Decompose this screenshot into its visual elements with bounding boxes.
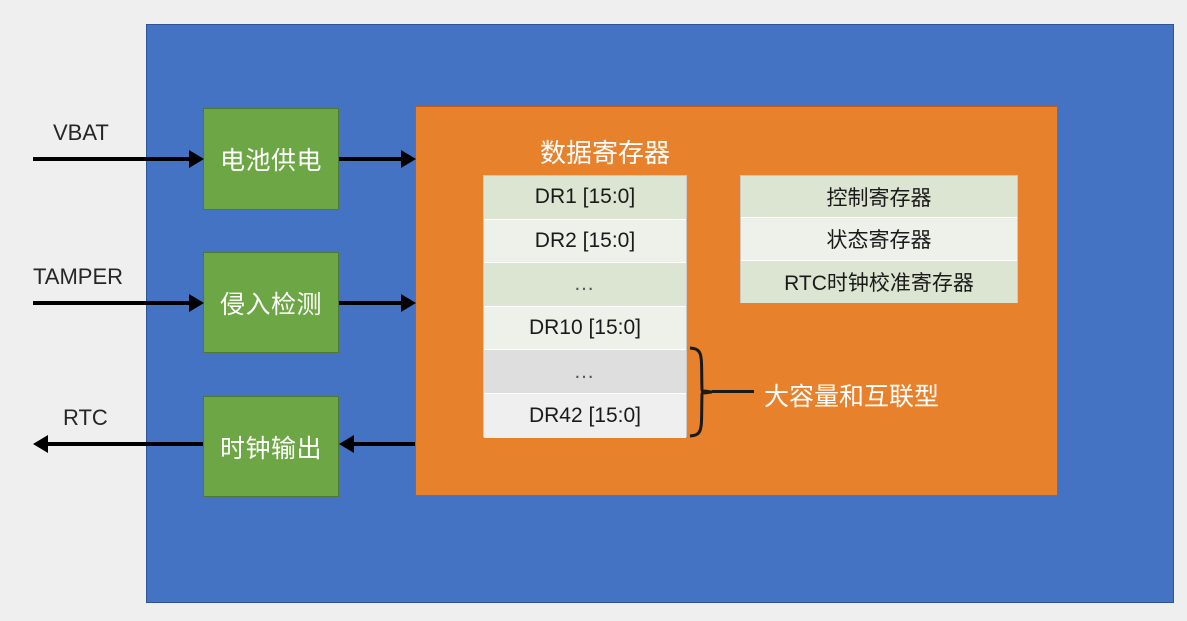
arrow-vbat-in (33, 157, 189, 161)
control-register-row: 控制寄存器 (741, 176, 1017, 218)
capacity-annotation: 大容量和互联型 (764, 377, 939, 413)
signal-label-rtc: RTC (63, 405, 108, 431)
data-register-row: DR2 [15:0] (484, 220, 686, 264)
data-register-row: DR1 [15:0] (484, 176, 686, 220)
data-register-row-label: … (574, 272, 597, 296)
panel-title: 数据寄存器 (540, 133, 670, 170)
function-block-clock-output: 时钟输出 (203, 396, 339, 497)
arrow-intrusion-to-registers (339, 301, 401, 305)
arrow-head-icon (189, 150, 204, 168)
arrow-head-icon (401, 150, 416, 168)
function-block-intrusion-detect: 侵入检测 (203, 252, 339, 353)
signal-label-vbat: VBAT (53, 120, 109, 146)
arrow-head-icon (339, 435, 354, 453)
data-register-row: … (484, 263, 686, 307)
control-register-row-label: 状态寄存器 (827, 224, 932, 254)
function-block-label: 侵入检测 (220, 285, 322, 321)
arrow-rtc-out (48, 442, 203, 446)
diagram-canvas: VBAT TAMPER RTC 电池供电 侵入检测 时钟输出 数据寄存器 DR1… (0, 0, 1187, 621)
arrow-head-icon (189, 294, 204, 312)
signal-label-tamper: TAMPER (33, 264, 123, 290)
data-register-row: DR10 [15:0] (484, 307, 686, 351)
brace-leader-line (712, 390, 754, 393)
function-block-label: 时钟输出 (220, 429, 322, 465)
curly-brace-icon (688, 346, 714, 438)
arrow-head-icon (401, 294, 416, 312)
data-register-row-label: DR10 [15:0] (529, 316, 641, 340)
arrow-tamper-in (33, 301, 189, 305)
data-register-row-label: … (574, 360, 597, 384)
data-register-row: … (484, 350, 686, 394)
function-block-battery-power: 电池供电 (203, 108, 339, 210)
arrow-battery-to-registers (339, 157, 401, 161)
data-register-row: DR42 [15:0] (484, 394, 686, 438)
arrow-registers-to-clock-output (354, 442, 415, 446)
control-register-row-label: RTC时钟校准寄存器 (784, 267, 974, 297)
data-register-row-label: DR2 [15:0] (535, 229, 635, 253)
function-block-label: 电池供电 (220, 141, 322, 177)
control-register-table: 控制寄存器状态寄存器RTC时钟校准寄存器 (740, 175, 1018, 303)
data-register-row-label: DR42 [15:0] (529, 404, 641, 428)
control-register-row: RTC时钟校准寄存器 (741, 261, 1017, 303)
arrow-head-icon (33, 435, 48, 453)
data-register-table: DR1 [15:0]DR2 [15:0]…DR10 [15:0]…DR42 [1… (483, 175, 687, 437)
data-register-row-label: DR1 [15:0] (535, 185, 635, 209)
control-register-row-label: 控制寄存器 (827, 182, 932, 212)
control-register-row: 状态寄存器 (741, 218, 1017, 260)
